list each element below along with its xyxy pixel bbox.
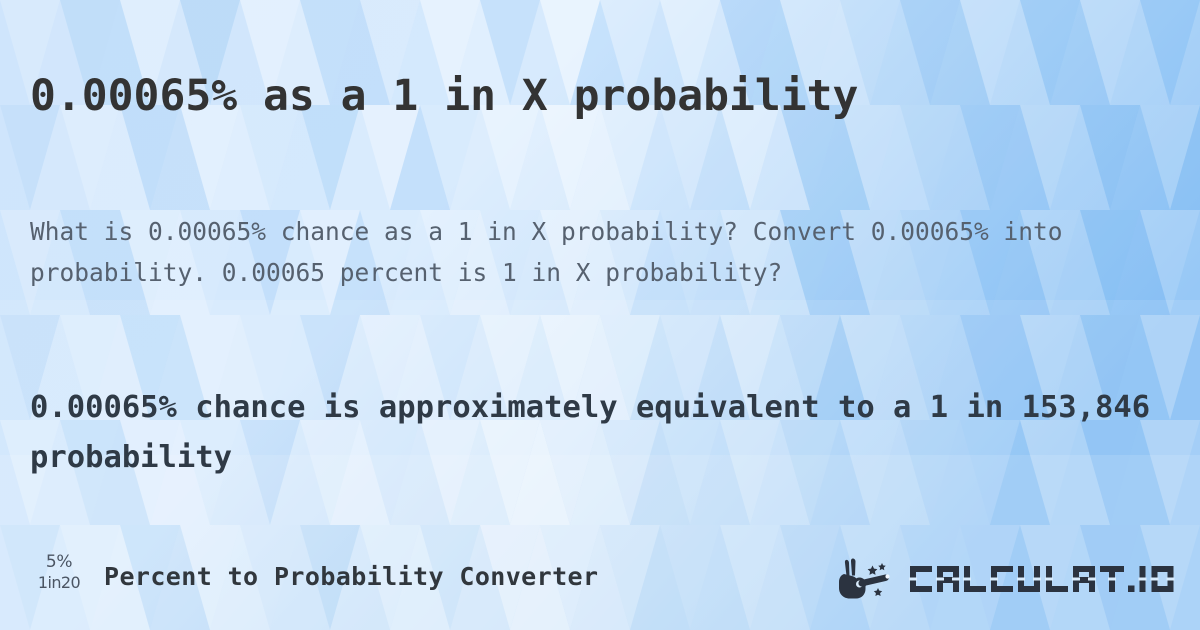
mini-logo-percent: 5% bbox=[30, 554, 88, 571]
result-text: 0.00065% chance is approximately equival… bbox=[30, 383, 1180, 483]
percent-ratio-mini-logo: 5% 1in20 bbox=[30, 554, 88, 591]
page-title: 0.00065% as a 1 in X probability bbox=[30, 73, 858, 120]
description-text: What is 0.00065% chance as a 1 in X prob… bbox=[30, 211, 1110, 293]
hand-magic-wand-icon bbox=[836, 557, 902, 601]
tool-name: Percent to Probability Converter bbox=[104, 562, 598, 591]
brand-logo[interactable]: CALCULAT.IO bbox=[836, 555, 1188, 603]
card-content: 0.00065% as a 1 in X probability What is… bbox=[0, 0, 1200, 630]
brand-wordmark: CALCULAT.IO bbox=[908, 559, 1188, 599]
mini-logo-ratio: 1in20 bbox=[30, 575, 88, 591]
footer: 5% 1in20 Percent to Probability Converte… bbox=[0, 545, 1200, 615]
social-card: 0.00065% as a 1 in X probability What is… bbox=[0, 0, 1200, 630]
